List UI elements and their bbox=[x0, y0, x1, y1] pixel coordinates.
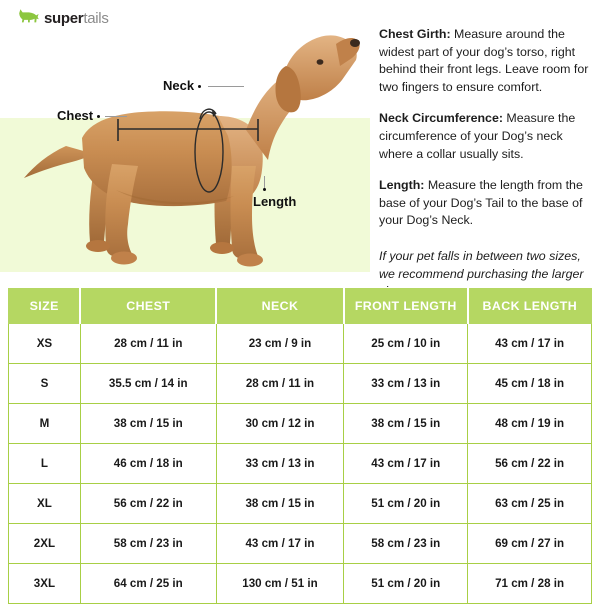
neck-label: Neck bbox=[163, 78, 201, 93]
column-header-chest: CHEST bbox=[80, 289, 216, 324]
cell-neck: 130 cm / 51 in bbox=[216, 564, 344, 604]
cell-neck: 38 cm / 15 in bbox=[216, 484, 344, 524]
size-chart-page: supertails bbox=[0, 0, 600, 600]
table-row: 3XL 64 cm / 25 in 130 cm / 51 in 51 cm /… bbox=[9, 564, 592, 604]
table-row: XS 28 cm / 11 in 23 cm / 9 in 25 cm / 10… bbox=[9, 324, 592, 364]
table-row: 2XL 58 cm / 23 in 43 cm / 17 in 58 cm / … bbox=[9, 524, 592, 564]
chest-leader-line bbox=[105, 116, 127, 117]
length-label-dot bbox=[263, 188, 266, 191]
instruction-chest-girth: Chest Girth: Measure around the widest p… bbox=[379, 26, 593, 96]
cell-front-length: 25 cm / 10 in bbox=[344, 324, 468, 364]
cell-front-length: 58 cm / 23 in bbox=[344, 524, 468, 564]
cell-neck: 28 cm / 11 in bbox=[216, 364, 344, 404]
cell-back-length: 48 cm / 19 in bbox=[468, 404, 592, 444]
cell-front-length: 33 cm / 13 in bbox=[344, 364, 468, 404]
cell-chest: 35.5 cm / 14 in bbox=[80, 364, 216, 404]
cell-front-length: 43 cm / 17 in bbox=[344, 444, 468, 484]
cell-chest: 58 cm / 23 in bbox=[80, 524, 216, 564]
table-row: M 38 cm / 15 in 30 cm / 12 in 38 cm / 15… bbox=[9, 404, 592, 444]
cell-size: S bbox=[9, 364, 81, 404]
cell-size: XL bbox=[9, 484, 81, 524]
neck-label-dot bbox=[198, 85, 201, 88]
cell-chest: 56 cm / 22 in bbox=[80, 484, 216, 524]
cell-neck: 33 cm / 13 in bbox=[216, 444, 344, 484]
length-label: Length bbox=[253, 194, 296, 209]
cell-front-length: 38 cm / 15 in bbox=[344, 404, 468, 444]
cell-back-length: 56 cm / 22 in bbox=[468, 444, 592, 484]
neck-leader-line bbox=[208, 86, 244, 87]
instruction-neck-circumference-term: Neck Circumference: bbox=[379, 111, 503, 125]
cell-size: L bbox=[9, 444, 81, 484]
cell-neck: 23 cm / 9 in bbox=[216, 324, 344, 364]
table-header-row: SIZE CHEST NECK FRONT LENGTH BACK LENGTH bbox=[9, 289, 592, 324]
measurement-guides-icon bbox=[0, 0, 370, 282]
cell-back-length: 45 cm / 18 in bbox=[468, 364, 592, 404]
cell-chest: 46 cm / 18 in bbox=[80, 444, 216, 484]
chest-label-dot bbox=[97, 115, 100, 118]
column-header-neck: NECK bbox=[216, 289, 344, 324]
cell-size: M bbox=[9, 404, 81, 444]
cell-size: XS bbox=[9, 324, 81, 364]
cell-front-length: 51 cm / 20 in bbox=[344, 484, 468, 524]
column-header-front-length: FRONT LENGTH bbox=[344, 289, 468, 324]
size-chart-table: SIZE CHEST NECK FRONT LENGTH BACK LENGTH… bbox=[8, 288, 592, 604]
cell-chest: 64 cm / 25 in bbox=[80, 564, 216, 604]
cell-chest: 28 cm / 11 in bbox=[80, 324, 216, 364]
cell-back-length: 71 cm / 28 in bbox=[468, 564, 592, 604]
column-header-back-length: BACK LENGTH bbox=[468, 289, 592, 324]
cell-front-length: 51 cm / 20 in bbox=[344, 564, 468, 604]
instructions-panel: Chest Girth: Measure around the widest p… bbox=[379, 26, 593, 301]
cell-neck: 43 cm / 17 in bbox=[216, 524, 344, 564]
cell-back-length: 43 cm / 17 in bbox=[468, 324, 592, 364]
table-row: XL 56 cm / 22 in 38 cm / 15 in 51 cm / 2… bbox=[9, 484, 592, 524]
table-row: L 46 cm / 18 in 33 cm / 13 in 43 cm / 17… bbox=[9, 444, 592, 484]
cell-back-length: 63 cm / 25 in bbox=[468, 484, 592, 524]
cell-size: 3XL bbox=[9, 564, 81, 604]
chest-label: Chest bbox=[57, 108, 100, 123]
cell-neck: 30 cm / 12 in bbox=[216, 404, 344, 444]
column-header-size: SIZE bbox=[9, 289, 81, 324]
table-row: S 35.5 cm / 14 in 28 cm / 11 in 33 cm / … bbox=[9, 364, 592, 404]
instruction-length: Length: Measure the length from the base… bbox=[379, 177, 593, 230]
cell-back-length: 69 cm / 27 in bbox=[468, 524, 592, 564]
instruction-chest-girth-term: Chest Girth: bbox=[379, 27, 451, 41]
cell-size: 2XL bbox=[9, 524, 81, 564]
instruction-neck-circumference: Neck Circumference: Measure the circumfe… bbox=[379, 110, 593, 163]
cell-chest: 38 cm / 15 in bbox=[80, 404, 216, 444]
instruction-length-term: Length: bbox=[379, 178, 424, 192]
